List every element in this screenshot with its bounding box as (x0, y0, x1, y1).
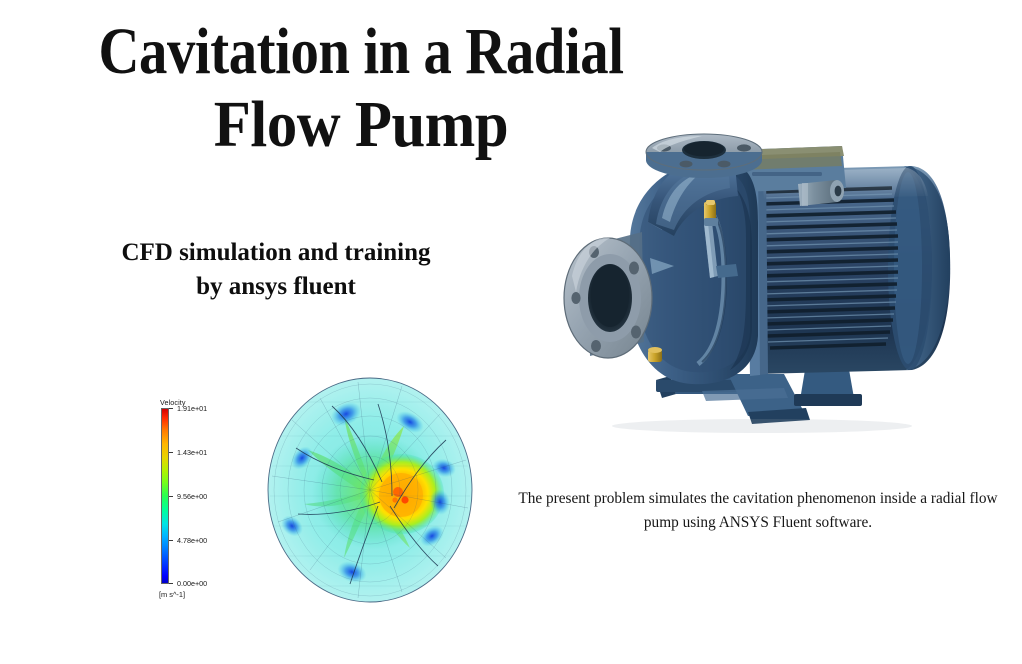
legend-tick-0 (169, 583, 173, 584)
legend-label-max: 1.91e+01 (177, 404, 207, 413)
legend-unit-label: [m s^-1] (159, 590, 185, 599)
slide-canvas: Cavitation in a Radial Flow Pump CFD sim… (0, 0, 1022, 664)
legend-colorbar (161, 408, 169, 584)
subtitle-line-2: by ansys fluent (36, 270, 516, 304)
pump-motor (748, 166, 950, 376)
legend-tick-1 (169, 540, 173, 541)
title-line-1: Cavitation in a Radial (51, 18, 672, 85)
subtitle: CFD simulation and training by ansys flu… (36, 236, 516, 303)
velocity-legend: Velocity 1.91e+01 1.43e+01 9.56e+00 4.78… (158, 398, 230, 608)
legend-label-min: 0.00e+00 (177, 579, 207, 588)
legend-label-3: 1.43e+01 (177, 448, 207, 457)
legend-label-1: 4.78e+00 (177, 536, 207, 545)
brass-drain-plug (648, 347, 662, 362)
velocity-contour-plot (262, 376, 478, 604)
legend-label-2: 9.56e+00 (177, 492, 207, 501)
legend-tick-3 (169, 452, 173, 453)
legend-tick-4 (169, 408, 173, 409)
legend-tick-2 (169, 496, 173, 497)
description-paragraph: The present problem simulates the cavita… (500, 487, 1016, 534)
centrifugal-pump-photo (552, 126, 1014, 438)
subtitle-line-1: CFD simulation and training (36, 236, 516, 270)
contour-field (268, 378, 472, 602)
pump-shadow (612, 419, 912, 433)
